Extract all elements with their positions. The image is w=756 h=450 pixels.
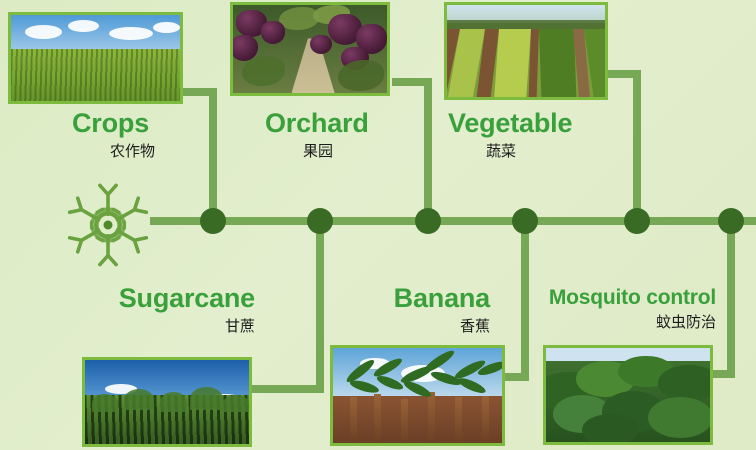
timeline-node-3[interactable] (415, 208, 441, 234)
timeline-node-5[interactable] (624, 208, 650, 234)
label-orchard: Orchard 果园 (265, 110, 369, 159)
connector-banana-arm (505, 373, 529, 381)
rice-field-photo (11, 15, 180, 101)
vegetable-rows-photo (447, 5, 605, 97)
timeline-node-1[interactable] (200, 208, 226, 234)
photo-orchard[interactable] (230, 2, 390, 96)
label-mosquito-control-title: Mosquito control (541, 287, 716, 308)
timeline-node-4[interactable] (512, 208, 538, 234)
label-orchard-title: Orchard (265, 110, 369, 137)
label-mosquito-control-subtitle: 蚊虫防治 (541, 315, 716, 330)
label-banana-subtitle: 香蕉 (375, 319, 490, 334)
label-banana-title: Banana (375, 285, 490, 312)
label-crops: Crops 农作物 (72, 110, 155, 159)
connector-mosquito (727, 219, 735, 374)
photo-mosquito-control[interactable] (543, 345, 713, 445)
label-crops-title: Crops (72, 110, 155, 137)
label-banana: Banana 香蕉 (375, 285, 490, 334)
label-crops-subtitle: 农作物 (72, 144, 155, 159)
label-vegetable: Vegetable 蔬菜 (448, 110, 572, 159)
label-sugarcane: Sugarcane 甘蔗 (90, 285, 255, 334)
connector-sugarcane (316, 219, 324, 389)
photo-banana[interactable] (330, 345, 505, 446)
forest-canopy-photo (546, 348, 710, 442)
connector-orchard-arm (392, 78, 432, 86)
label-mosquito-control: Mosquito control 蚊虫防治 (541, 287, 716, 330)
molecule-snowflake-icon (62, 180, 154, 270)
timeline-node-2[interactable] (307, 208, 333, 234)
connector-orchard (424, 78, 432, 223)
label-vegetable-subtitle: 蔬菜 (448, 144, 572, 159)
photo-crops[interactable] (8, 12, 183, 104)
photo-sugarcane[interactable] (82, 357, 252, 447)
timeline-axis (150, 217, 756, 225)
label-orchard-subtitle: 果园 (265, 144, 369, 159)
grape-vineyard-photo (233, 5, 387, 93)
label-sugarcane-subtitle: 甘蔗 (90, 319, 255, 334)
connector-vegetable-arm (606, 70, 641, 78)
photo-vegetable[interactable] (444, 2, 608, 100)
infographic-canvas: Crops 农作物 Orchard 果园 Vegetable 蔬菜 Sugarc… (0, 0, 756, 450)
label-vegetable-title: Vegetable (448, 110, 572, 137)
connector-banana (521, 219, 529, 377)
connector-vegetable (633, 70, 641, 223)
label-sugarcane-title: Sugarcane (90, 285, 255, 312)
timeline-node-6[interactable] (718, 208, 744, 234)
connector-mosquito-arm (712, 370, 735, 378)
banana-plantation-photo (333, 348, 502, 443)
connector-sugarcane-arm (252, 385, 324, 393)
sugarcane-field-photo (85, 360, 249, 444)
connector-crops-arm (180, 88, 217, 96)
connector-crops (209, 88, 217, 223)
